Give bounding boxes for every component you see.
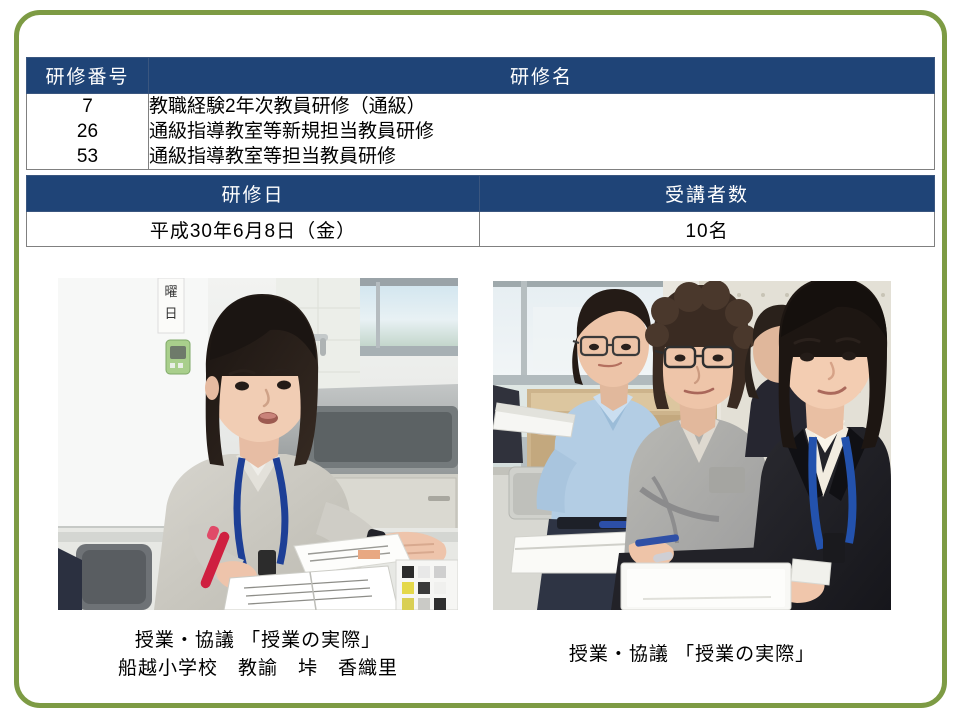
- table-row: 7 26 53 教職経験2年次教員研修（通級） 通級指導教室等新規担当教員研修 …: [27, 94, 935, 170]
- caption-right-line-1: 授業・協議 「授業の実際」: [493, 641, 891, 669]
- training-number-1: 26: [27, 119, 148, 144]
- training-number-list: 7 26 53: [27, 94, 149, 170]
- training-number-2: 53: [27, 144, 148, 169]
- table-header-row-1: 研修番号 研修名: [27, 58, 935, 94]
- training-info-table: 研修番号 研修名 7 26 53 教職経験2年次教員研修（通級） 通級指導教室等…: [26, 57, 935, 247]
- photo-teacher-presenting-graphic: 曜 日: [58, 278, 458, 610]
- caption-left-photo: 授業・協議 「授業の実際」 船越小学校 教諭 垰 香織里: [58, 627, 458, 683]
- table-value-row-2: 平成30年6月8日（金） 10名: [27, 212, 935, 247]
- svg-text:曜: 曜: [164, 285, 177, 300]
- photo-teacher-presenting: 曜 日: [58, 278, 458, 610]
- header-training-date: 研修日: [27, 176, 480, 212]
- caption-right-photo: 授業・協議 「授業の実際」: [493, 641, 891, 669]
- training-name-0: 教職経験2年次教員研修（通級）: [149, 94, 934, 119]
- caption-left-line-2: 船越小学校 教諭 垰 香織里: [58, 655, 458, 683]
- training-name-2: 通級指導教室等担当教員研修: [149, 144, 934, 169]
- training-number-0: 7: [27, 94, 148, 119]
- header-participant-count: 受講者数: [480, 176, 935, 212]
- header-training-number: 研修番号: [27, 58, 149, 94]
- value-training-date: 平成30年6月8日（金）: [27, 212, 480, 247]
- value-participant-count: 10名: [480, 212, 935, 247]
- header-training-name: 研修名: [149, 58, 935, 94]
- photo-participants-listening-graphic: [493, 281, 891, 610]
- table-header-row-2: 研修日 受講者数: [27, 176, 935, 212]
- training-name-1: 通級指導教室等新規担当教員研修: [149, 119, 934, 144]
- caption-left-line-1: 授業・協議 「授業の実際」: [58, 627, 458, 655]
- photo-participants-listening: [493, 281, 891, 610]
- training-name-list: 教職経験2年次教員研修（通級） 通級指導教室等新規担当教員研修 通級指導教室等担…: [149, 94, 935, 170]
- svg-text:日: 日: [164, 307, 177, 322]
